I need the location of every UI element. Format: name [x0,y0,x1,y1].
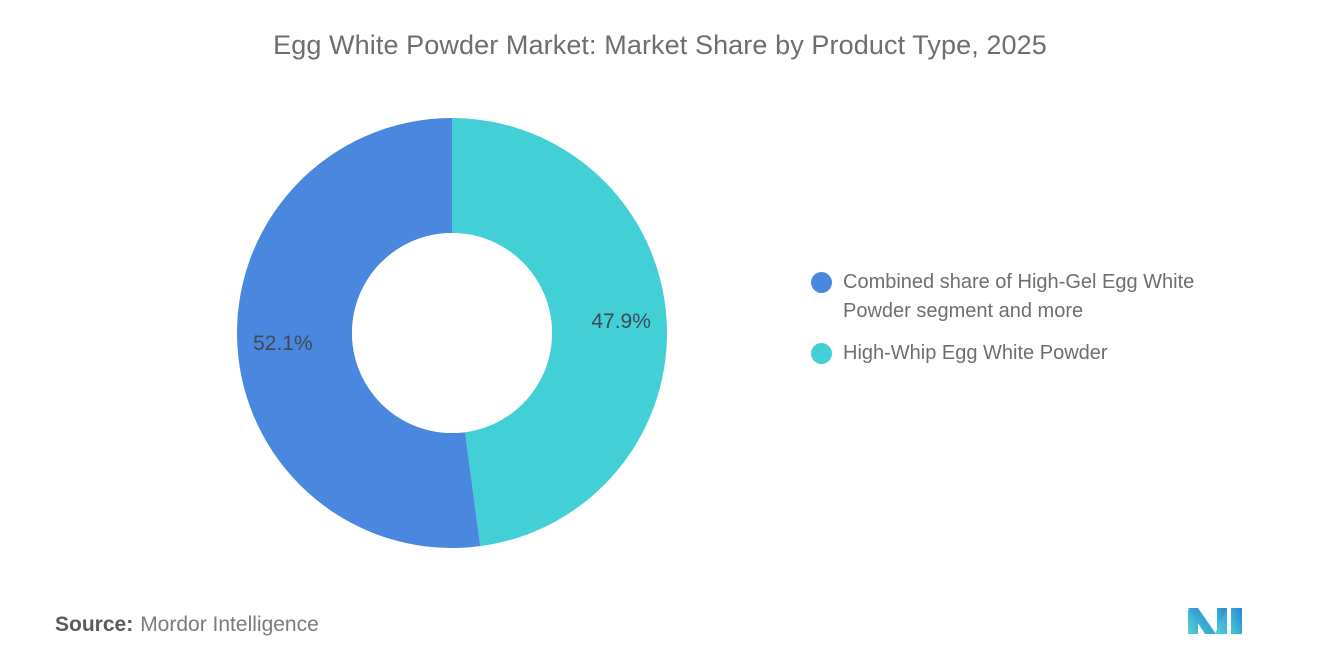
legend-item-combined-high-gel[interactable]: Combined share of High-Gel Egg White Pow… [811,268,1281,326]
chart-container: Egg White Powder Market: Market Share by… [0,0,1320,665]
legend-swatch-icon-combined-high-gel [811,272,832,293]
mordor-intelligence-logo-icon [1186,600,1252,636]
donut-chart: 52.1% 47.9% [237,118,667,548]
legend-label-combined-high-gel: Combined share of High-Gel Egg White Pow… [843,268,1253,326]
chart-legend: Combined share of High-Gel Egg White Pow… [811,268,1281,381]
source-line: Source:Mordor Intelligence [55,613,319,637]
chart-title: Egg White Powder Market: Market Share by… [0,30,1320,61]
legend-item-high-whip[interactable]: High-Whip Egg White Powder [811,339,1281,368]
legend-label-high-whip: High-Whip Egg White Powder [843,339,1108,368]
donut-hole [352,233,552,433]
slice-value-label-combined-high-gel: 52.1% [253,332,313,356]
legend-swatch-icon-high-whip [811,343,832,364]
source-value: Mordor Intelligence [140,613,319,636]
source-label: Source: [55,613,133,636]
slice-value-label-high-whip: 47.9% [591,310,651,334]
